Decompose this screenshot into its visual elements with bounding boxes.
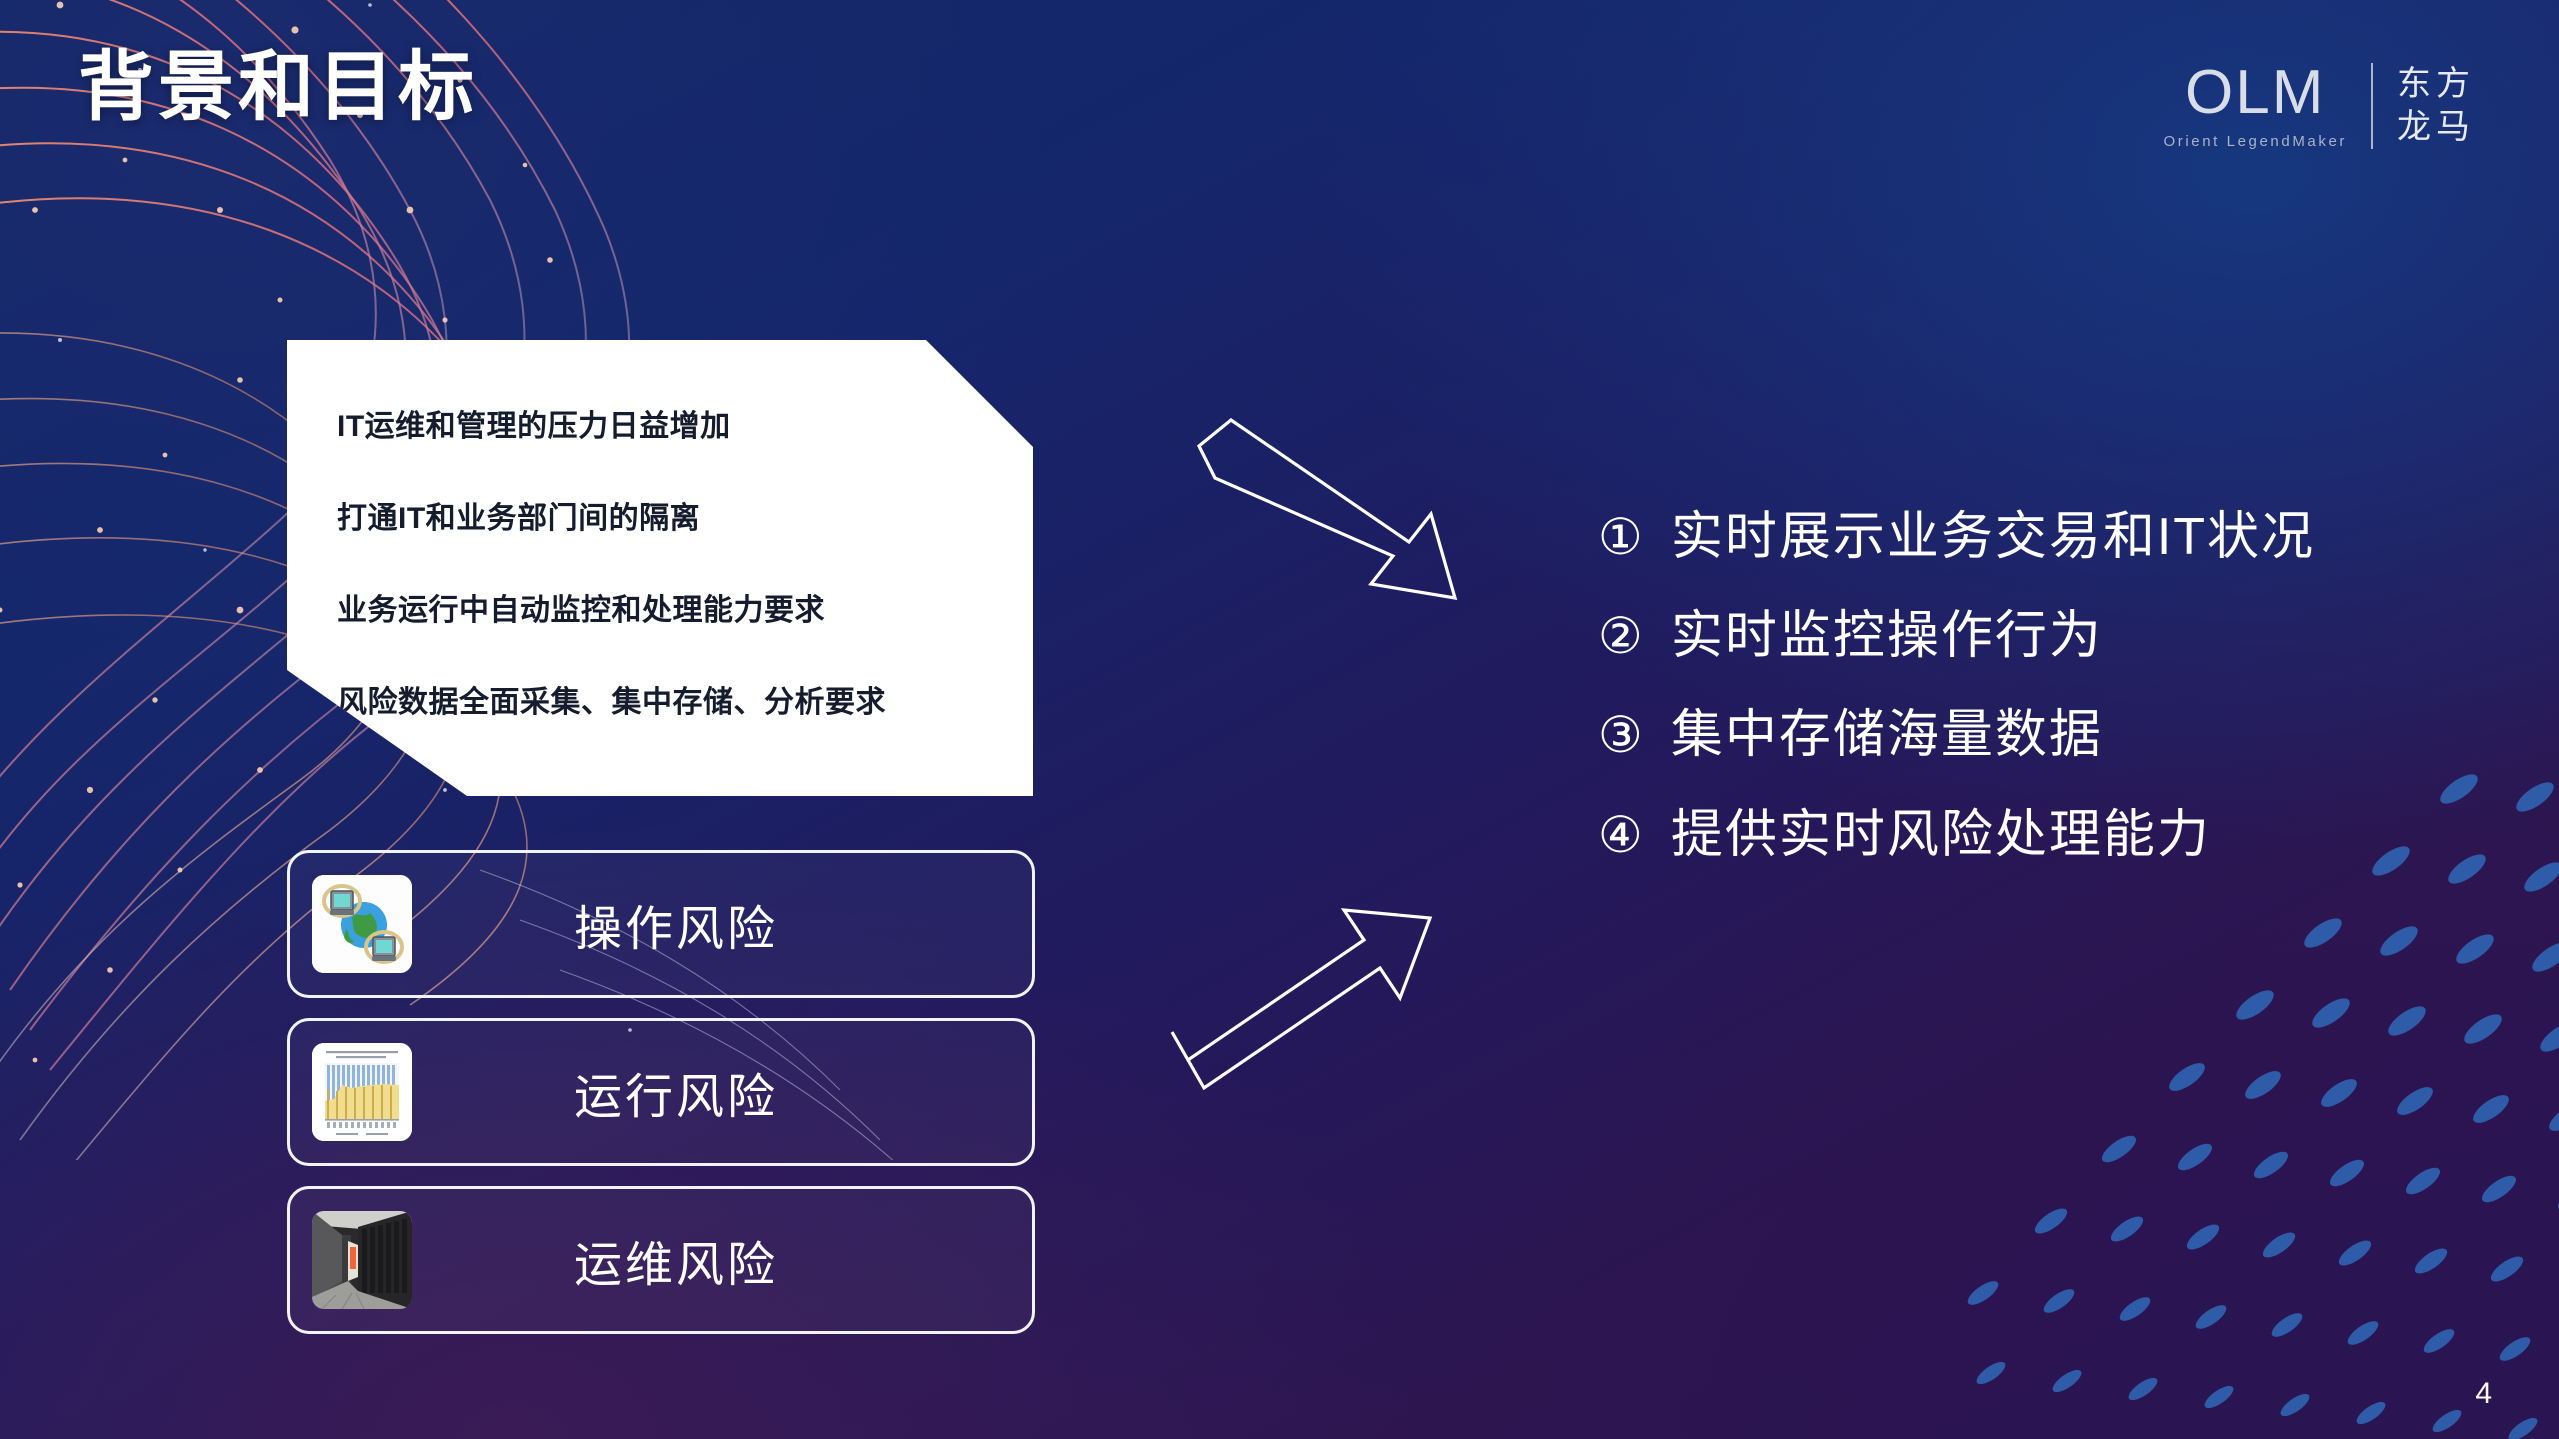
risk-card-operation[interactable]: 操作风险 [287, 850, 1035, 998]
slide-canvas: 背景和目标 OLM Orient LegendMaker 东方 龙马 IT运维和… [0, 0, 2559, 1439]
pain-points-callout-panel: IT运维和管理的压力日益增加 打通IT和业务部门间的隔离 业务运行中自动监控和处… [287, 340, 1035, 798]
goal-number: ① [1598, 512, 1645, 562]
logo-chinese-name: 东方 龙马 [2397, 64, 2475, 149]
logo-wordmark-block: OLM Orient LegendMaker [2163, 62, 2347, 150]
logo-cn-line2: 龙马 [2397, 107, 2475, 148]
callout-line-2: 打通IT和业务部门间的隔离 [337, 504, 1035, 534]
goal-text: 提供实时风险处理能力 [1671, 806, 2211, 864]
risk-card-maintenance[interactable]: 运维风险 [287, 1186, 1035, 1334]
callout-line-3: 业务运行中自动监控和处理能力要求 [337, 596, 1035, 626]
logo-divider [2371, 63, 2373, 149]
brand-logo: OLM Orient LegendMaker 东方 龙马 [2163, 62, 2475, 150]
page-number: 4 [2475, 1377, 2493, 1411]
arrow-down-right-icon [1195, 418, 1475, 618]
goal-number: ④ [1598, 810, 1645, 860]
goal-number: ③ [1598, 710, 1645, 760]
bar-chart-icon [312, 1043, 412, 1141]
goal-text: 实时监控操作行为 [1671, 607, 2103, 665]
goal-item-3: ③ 集中存储海量数据 [1598, 706, 2478, 764]
goal-item-2: ② 实时监控操作行为 [1598, 607, 2478, 665]
risk-card-runtime[interactable]: 运行风险 [287, 1018, 1035, 1166]
network-globe-icon [312, 875, 412, 973]
goal-text: 集中存储海量数据 [1671, 706, 2103, 764]
page-title: 背景和目标 [78, 48, 478, 128]
logo-cn-line1: 东方 [2397, 64, 2475, 105]
risk-card-label: 运维风险 [412, 1225, 1032, 1295]
callout-line-1: IT运维和管理的压力日益增加 [337, 412, 1035, 442]
data-center-photo-icon [312, 1211, 412, 1309]
risk-card-label: 操作风险 [412, 889, 1032, 959]
goal-text: 实时展示业务交易和IT状况 [1671, 508, 2315, 566]
goal-item-4: ④ 提供实时风险处理能力 [1598, 806, 2478, 864]
logo-olm-text: OLM [2185, 62, 2325, 124]
arrow-up-right-icon [1168, 876, 1458, 1091]
goal-number: ② [1598, 611, 1645, 661]
goals-list: ① 实时展示业务交易和IT状况 ② 实时监控操作行为 ③ 集中存储海量数据 ④ … [1598, 508, 2478, 864]
logo-tagline: Orient LegendMaker [2163, 133, 2347, 150]
risk-card-label: 运行风险 [412, 1057, 1032, 1127]
callout-line-4: 风险数据全面采集、集中存储、分析要求 [337, 688, 1035, 718]
goal-item-1: ① 实时展示业务交易和IT状况 [1598, 508, 2478, 566]
